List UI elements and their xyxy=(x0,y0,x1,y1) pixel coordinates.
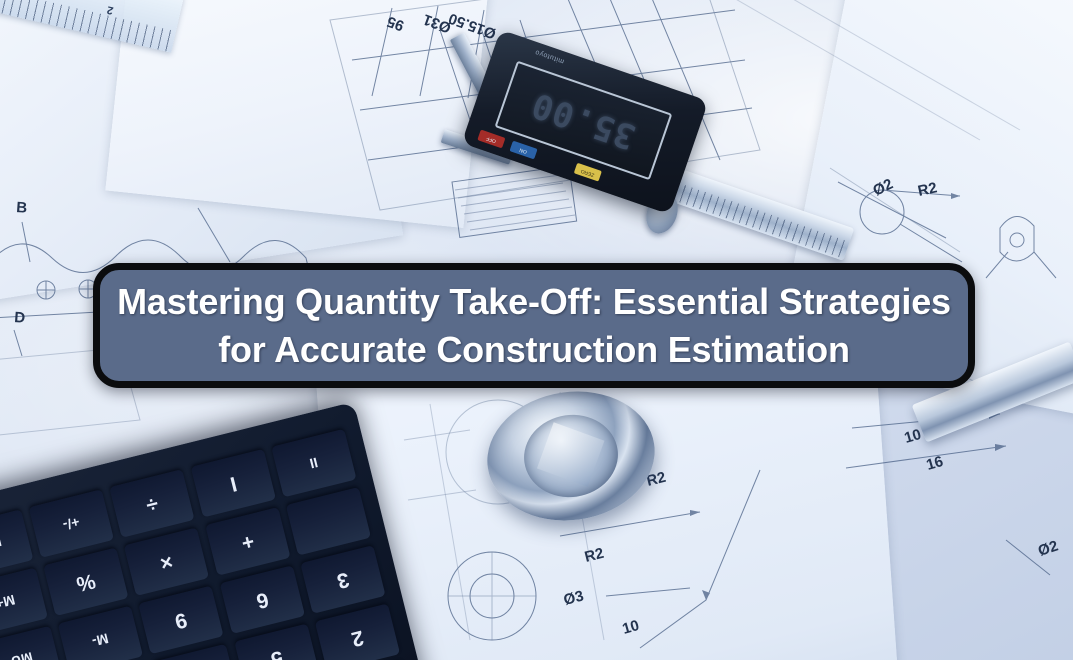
calculator-key[interactable]: × xyxy=(124,527,210,596)
caliper-body: mitutoyo 35.00 OFF ON ZERO xyxy=(461,29,708,214)
calculator-key[interactable]: 9 xyxy=(138,586,224,655)
calculator-key[interactable]: MU xyxy=(0,509,33,578)
calculator-key-blank xyxy=(285,487,371,556)
blueprint-annotation: 16 xyxy=(924,453,945,474)
caliper-lcd-screen: 35.00 xyxy=(495,61,673,181)
blueprint-annotation: D xyxy=(14,309,26,327)
calculator-key[interactable]: % xyxy=(43,547,129,616)
caliper-on-button[interactable]: ON xyxy=(509,141,537,160)
calculator-key[interactable]: ÷ xyxy=(109,469,195,538)
calculator-key[interactable]: 2 xyxy=(314,603,400,660)
blueprint-annotation: 10 xyxy=(902,426,923,447)
caliper-zero-button[interactable]: ZERO xyxy=(574,163,602,182)
digital-caliper: mitutoyo 35.00 OFF ON ZERO xyxy=(415,10,845,280)
calculator-key[interactable]: + xyxy=(205,507,291,576)
calculator-key[interactable]: 6 xyxy=(219,565,305,634)
calculator-key[interactable]: M- xyxy=(58,606,144,660)
caliper-reading: 35.00 xyxy=(497,63,670,177)
blueprint-annotation: Ø2 xyxy=(1036,537,1060,559)
caliper-off-button[interactable]: OFF xyxy=(477,130,505,149)
calculator-key[interactable]: +/- xyxy=(29,489,115,558)
calculator-keypad: MU+/-÷IIIM+%×+MU-M-96385200· xyxy=(0,429,415,660)
calculator-key[interactable]: MU- xyxy=(0,626,63,660)
title-banner: Mastering Quantity Take-Off: Essential S… xyxy=(93,263,975,388)
calculator-key[interactable]: I xyxy=(190,449,276,518)
ruler-mark-2: 2 xyxy=(106,3,115,16)
calculator-key[interactable]: II xyxy=(271,429,357,498)
banner-title-line-2: for Accurate Construction Estimation xyxy=(218,326,850,374)
caliper-brand-label: mitutoyo xyxy=(534,48,565,65)
banner-title-line-1: Mastering Quantity Take-Off: Essential S… xyxy=(117,278,951,326)
calculator-key[interactable]: 3 xyxy=(300,545,386,614)
calculator-key[interactable]: M+ xyxy=(0,568,48,637)
hero-banner-image: 95Ø31Ø15.50BDØ2R2R2R2Ø3101016Ø2 2 3 mitu… xyxy=(0,0,1073,660)
